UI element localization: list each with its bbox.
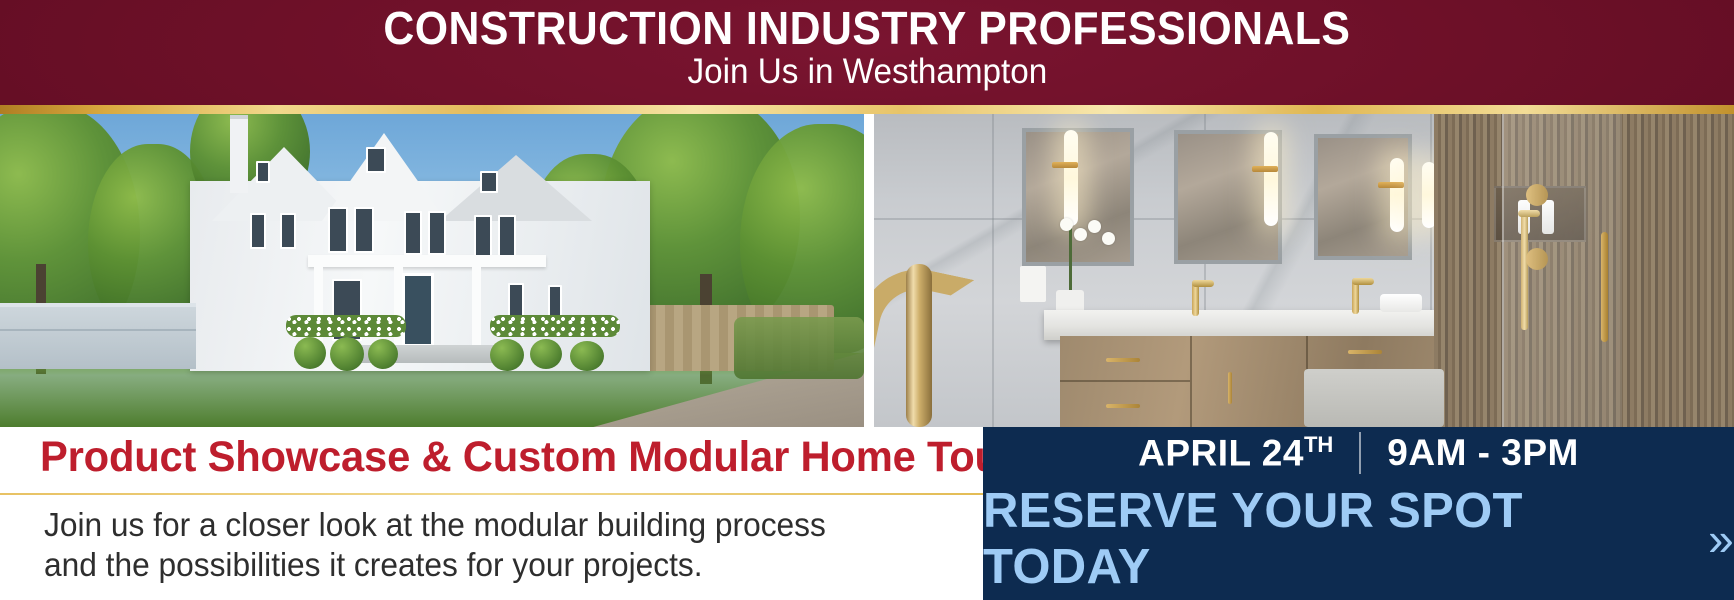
date-ordinal-suffix: TH (1304, 432, 1333, 457)
datetime-separator (1359, 432, 1361, 474)
orchid-stem (1069, 224, 1072, 292)
sconce-arm (1052, 162, 1078, 168)
tile-grout-line (992, 114, 994, 427)
faucet-post (906, 264, 932, 427)
faucet-spout (1192, 280, 1214, 287)
header-subtitle: Join Us in Westhampton (687, 53, 1047, 92)
modular-home-exterior-photo (0, 114, 864, 427)
event-datetime-row: APRIL 24TH 9AM - 3PM (1138, 432, 1579, 474)
window (366, 147, 386, 173)
reserve-spot-button[interactable]: RESERVE YOUR SPOT TODAY » (983, 483, 1734, 595)
window (474, 215, 492, 257)
chimney (230, 115, 248, 193)
gold-hairline-divider (0, 493, 983, 495)
description-line-1: Join us for a closer look at the modular… (44, 505, 937, 545)
wall-outlet (1020, 266, 1046, 302)
house (190, 123, 650, 371)
window (428, 211, 446, 255)
sconce-arm (1378, 182, 1404, 188)
faucet-spout (1352, 278, 1374, 285)
window (404, 211, 422, 255)
privacy-fence (0, 303, 196, 369)
event-date: APRIL 24TH (1138, 432, 1333, 474)
window (250, 213, 266, 249)
cabinet-pull (1228, 372, 1232, 404)
wall-sconce-light (1064, 130, 1078, 226)
vanity-mirror (1022, 128, 1134, 266)
porch-roof (308, 255, 546, 267)
window (256, 161, 270, 183)
photo-strip (0, 114, 1734, 427)
wall-sconce-light (1264, 132, 1278, 226)
shrub (330, 337, 364, 371)
cabinet-seam (1190, 336, 1192, 427)
orchid-bloom (1060, 218, 1073, 231)
shrub (570, 341, 604, 371)
cabinet-pull (1106, 358, 1140, 362)
event-date-value: APRIL 24 (1138, 433, 1304, 474)
window (480, 171, 498, 193)
hedge (734, 317, 864, 379)
gold-divider-rule (0, 105, 1734, 114)
shower-door-handle (1601, 232, 1608, 342)
window (328, 207, 348, 253)
cabinet-pull (1106, 404, 1140, 408)
reserve-spot-label: RESERVE YOUR SPOT TODAY (983, 483, 1696, 595)
shrub (368, 339, 398, 369)
event-description: Join us for a closer look at the modular… (44, 505, 937, 586)
shrub (530, 339, 562, 369)
banner-header: CONSTRUCTION INDUSTRY PROFESSIONALS Join… (0, 0, 1734, 110)
foreground-faucet (874, 264, 990, 427)
orchid-bloom (1102, 232, 1115, 245)
event-promo-banner: CONSTRUCTION INDUSTRY PROFESSIONALS Join… (0, 0, 1734, 600)
cabinet-seam (1060, 380, 1190, 382)
flower-bed (286, 315, 406, 337)
sconce-arm (1252, 166, 1278, 172)
shower-bench (1304, 369, 1444, 427)
window (280, 213, 296, 249)
shrub (490, 339, 524, 371)
header-title: CONSTRUCTION INDUSTRY PROFESSIONALS (383, 4, 1350, 52)
lower-content: Product Showcase & Custom Modular Home T… (0, 427, 1734, 600)
event-time: 9AM - 3PM (1387, 432, 1579, 474)
luxury-bathroom-interior-photo (874, 114, 1734, 427)
rolled-towel (1380, 294, 1422, 312)
wall-sconce-light (1390, 158, 1404, 232)
cta-panel[interactable]: APRIL 24TH 9AM - 3PM RESERVE YOUR SPOT T… (983, 427, 1734, 600)
flower-bed (490, 315, 620, 337)
shrub (294, 337, 326, 369)
house-gable (440, 155, 592, 221)
orchid-bloom (1074, 228, 1087, 241)
window (354, 207, 374, 253)
cabinet-pull (1348, 350, 1382, 354)
orchid-bloom (1088, 220, 1101, 233)
event-headline: Product Showcase & Custom Modular Home T… (40, 433, 1016, 482)
window (498, 215, 516, 257)
porch-column (472, 265, 481, 347)
double-chevron-right-icon: » (1708, 516, 1734, 562)
description-line-2: and the possibilities it creates for you… (44, 545, 937, 585)
front-door (402, 273, 434, 347)
